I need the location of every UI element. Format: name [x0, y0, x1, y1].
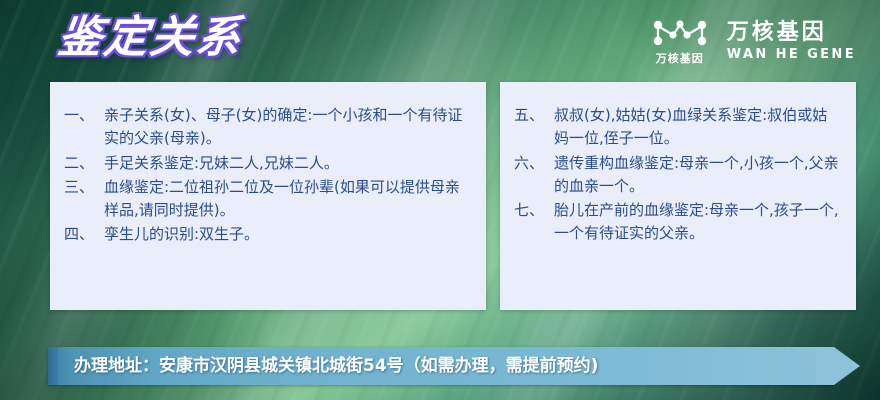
panel-right: 五、 叔叔(女),姑姑(女)血绿关系鉴定:叔伯或姑妈一位,侄子一位。 六、 遗传…	[500, 82, 856, 310]
list-item-number: 六、	[514, 152, 554, 175]
list-item-text: 亲子关系(女)、母子(女)的确定:一个小孩和一个有待证实的父亲(母亲)。	[104, 104, 472, 151]
address-bar: 办理地址：安康市汉阴县城关镇北城街54号（如需办理，需提前预约)	[48, 347, 860, 385]
address-bar-arrow-icon	[834, 347, 860, 385]
address-bar-text: 办理地址：安康市汉阴县城关镇北城街54号（如需办理，需提前预约)	[74, 347, 598, 385]
list-item-text: 血缘鉴定:二位祖孙二位及一位孙辈(如果可以提供母亲样品,请同时提供)。	[104, 176, 472, 223]
list-item-text: 遗传重构血缘鉴定:母亲一个,小孩一个,父亲的血亲一个。	[554, 152, 842, 199]
list-item: 一、 亲子关系(女)、母子(女)的确定:一个小孩和一个有待证实的父亲(母亲)。	[64, 104, 472, 151]
list-item-number: 五、	[514, 104, 554, 127]
brand-mark-label: 万核基因	[656, 53, 704, 64]
list-item-number: 二、	[64, 152, 104, 175]
poster-canvas: 鉴定关系	[0, 0, 880, 400]
molecule-network-icon	[649, 18, 711, 50]
list-item-text: 孪生儿的识别:双生子。	[104, 223, 472, 246]
list-item: 六、 遗传重构血缘鉴定:母亲一个,小孩一个,父亲的血亲一个。	[514, 152, 842, 199]
page-title: 鉴定关系	[55, 12, 245, 65]
brand-name-cn: 万核基因	[727, 21, 856, 44]
panel-left: 一、 亲子关系(女)、母子(女)的确定:一个小孩和一个有待证实的父亲(母亲)。 …	[50, 82, 486, 310]
brand-name-en: WAN HE GENE	[727, 48, 856, 61]
list-item: 五、 叔叔(女),姑姑(女)血绿关系鉴定:叔伯或姑妈一位,侄子一位。	[514, 104, 842, 151]
list-item-text: 叔叔(女),姑姑(女)血绿关系鉴定:叔伯或姑妈一位,侄子一位。	[554, 104, 842, 151]
list-item-number: 七、	[514, 199, 554, 222]
list-item-text: 胎儿在产前的血缘鉴定:母亲一个,孩子一个,一个有待证实的父亲。	[554, 199, 842, 246]
list-item: 七、 胎儿在产前的血缘鉴定:母亲一个,孩子一个,一个有待证实的父亲。	[514, 199, 842, 246]
list-item-number: 一、	[64, 104, 104, 127]
brand-wordmark: 万核基因 WAN HE GENE	[727, 21, 856, 60]
list-item: 三、 血缘鉴定:二位祖孙二位及一位孙辈(如果可以提供母亲样品,请同时提供)。	[64, 176, 472, 223]
address-bar-left-cap	[48, 347, 58, 385]
list-item-text: 手足关系鉴定:兄妹二人,兄妹二人。	[104, 152, 472, 175]
list-item-number: 三、	[64, 176, 104, 199]
list-item-number: 四、	[64, 223, 104, 246]
list-item: 四、 孪生儿的识别:双生子。	[64, 223, 472, 246]
brand-mark: 万核基因	[649, 18, 711, 64]
list-item: 二、 手足关系鉴定:兄妹二人,兄妹二人。	[64, 152, 472, 175]
brand-logo: 万核基因 万核基因 WAN HE GENE	[649, 18, 856, 64]
content-panels: 一、 亲子关系(女)、母子(女)的确定:一个小孩和一个有待证实的父亲(母亲)。 …	[50, 82, 856, 310]
